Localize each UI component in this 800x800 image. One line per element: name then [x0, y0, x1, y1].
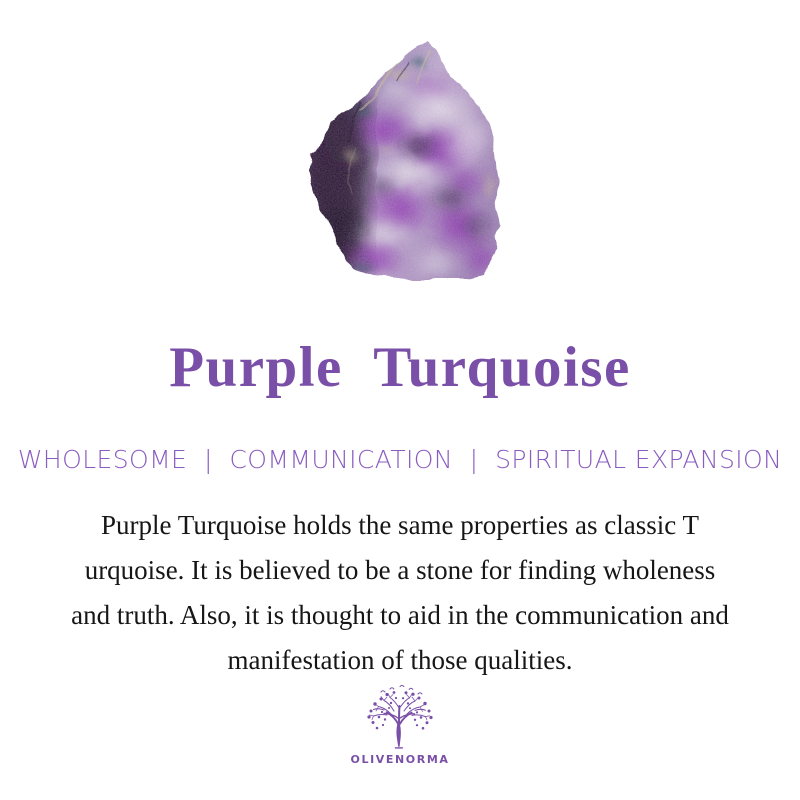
description-line: Purple Turquoise holds the same properti…	[20, 503, 780, 548]
description-line: urquoise. It is believed to be a stone f…	[20, 548, 780, 593]
description-line: and truth. Also, it is thought to aid in…	[20, 593, 780, 638]
keyword-line: WHOLESOME | COMMUNICATION | SPIRITUAL EX…	[0, 445, 800, 475]
description-line: manifestation of those qualities.	[20, 638, 780, 683]
tree-of-life-icon	[363, 684, 437, 750]
page-title: Purple Turquoise	[0, 336, 800, 400]
stone-image-area	[0, 0, 800, 310]
brand-wordmark: OLIVENORMA	[351, 753, 450, 766]
product-info-card: Purple Turquoise WHOLESOME | COMMUNICATI…	[0, 0, 800, 800]
description-block: Purple Turquoise holds the same properti…	[20, 503, 780, 683]
purple-turquoise-stone-image	[290, 30, 515, 290]
brand-logo: OLIVENORMA	[0, 684, 800, 766]
